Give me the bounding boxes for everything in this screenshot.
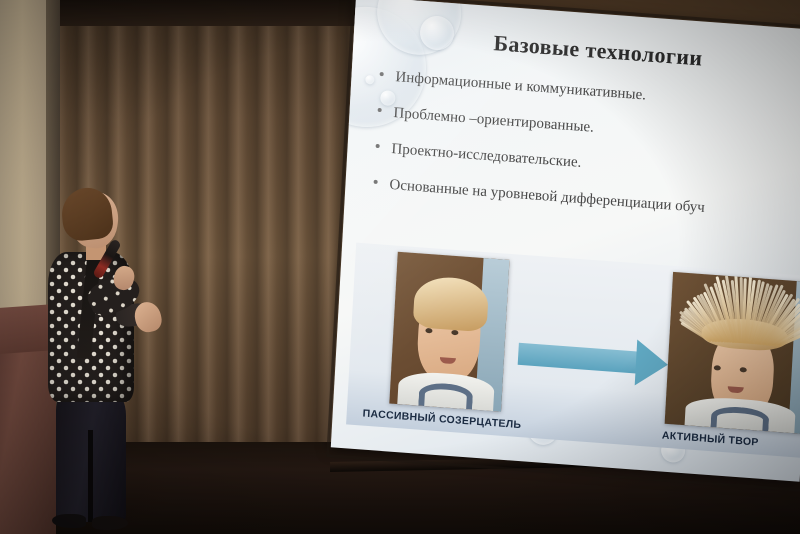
slide-title: Базовые технологии (493, 30, 703, 71)
projection-screen: Базовые технологии Информационные и комм… (330, 0, 800, 490)
boy-eye (425, 328, 432, 334)
slide-bullet-text: Проектно-исследовательские. (391, 141, 582, 172)
presenter-shoe-left (52, 514, 86, 528)
bullet-dot-icon (374, 180, 378, 184)
transformation-arrow-head (635, 339, 669, 387)
slide-bullet-text: Проблемно –ориентированные. (393, 105, 594, 137)
slide-bullet-text: Информационные и коммуникативные. (395, 69, 646, 104)
photo-passive-boy (389, 252, 509, 412)
presenter-shoe-right (92, 516, 128, 530)
slide-surface: Базовые технологии Информационные и комм… (331, 0, 800, 482)
presenter (30, 192, 160, 534)
transformation-arrow-body (518, 343, 639, 374)
boy-spiky-hair (669, 272, 800, 355)
curtain-rail (58, 0, 358, 26)
photo-active-boy (665, 272, 800, 435)
slide-bullet-text: Основанные на уровневой дифференциации о… (389, 177, 705, 217)
boy-hair (413, 275, 490, 332)
presenter-leg-gap (88, 430, 93, 522)
screenshot-root: Базовые технологии Информационные и комм… (0, 0, 800, 534)
slide-bullet-list: Информационные и коммуникативные. Пробле… (372, 68, 800, 245)
caption-active: АКТИВНЫЙ ТВОР (662, 430, 759, 449)
bullet-dot-icon (378, 108, 382, 112)
bullet-dot-icon (380, 72, 384, 76)
slide-photo-band: ПАССИВНЫЙ СОЗЕРЦАТЕЛЬ АКТИВНЫЙ ТВОР (346, 243, 800, 458)
bullet-dot-icon (376, 144, 380, 148)
